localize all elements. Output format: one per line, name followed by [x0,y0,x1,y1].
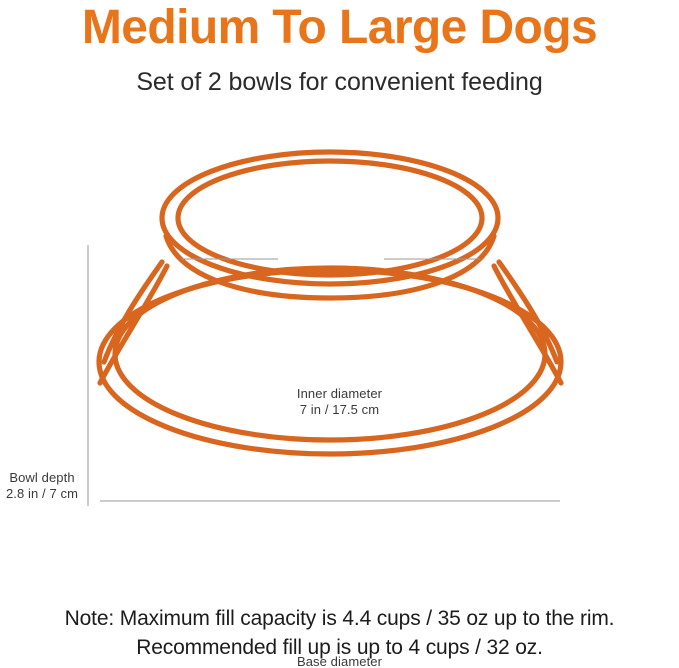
bowl-body-right-wall [494,266,561,383]
inner-diameter-value: 7 in / 17.5 cm [0,402,679,418]
page-title: Medium To Large Dogs [0,2,679,54]
rim-outer-ellipse [162,152,498,284]
bowl-body-left-wall [100,266,167,383]
bowl-depth-value: 2.8 in / 7 cm [0,486,84,502]
inner-diameter-annotation: Inner diameter 7 in / 17.5 cm [0,386,679,418]
rim-inner-ellipse [178,161,482,275]
capacity-note-line-2: Recommended fill up is up to 4 cups / 32… [0,633,679,662]
bowl-depth-annotation: Bowl depth 2.8 in / 7 cm [0,470,84,502]
bowl-illustration: Inner diameter 7 in / 17.5 cm Bowl depth… [0,140,679,570]
capacity-note: Note: Maximum fill capacity is 4.4 cups … [0,604,679,662]
bowl-diagram-svg [0,140,679,570]
infographic-page: Medium To Large Dogs Set of 2 bowls for … [0,0,679,668]
capacity-note-line-1: Note: Maximum fill capacity is 4.4 cups … [0,604,679,633]
inner-diameter-label: Inner diameter [0,386,679,402]
bowl-depth-label: Bowl depth [0,470,84,486]
page-subtitle: Set of 2 bowls for convenient feeding [0,67,679,97]
